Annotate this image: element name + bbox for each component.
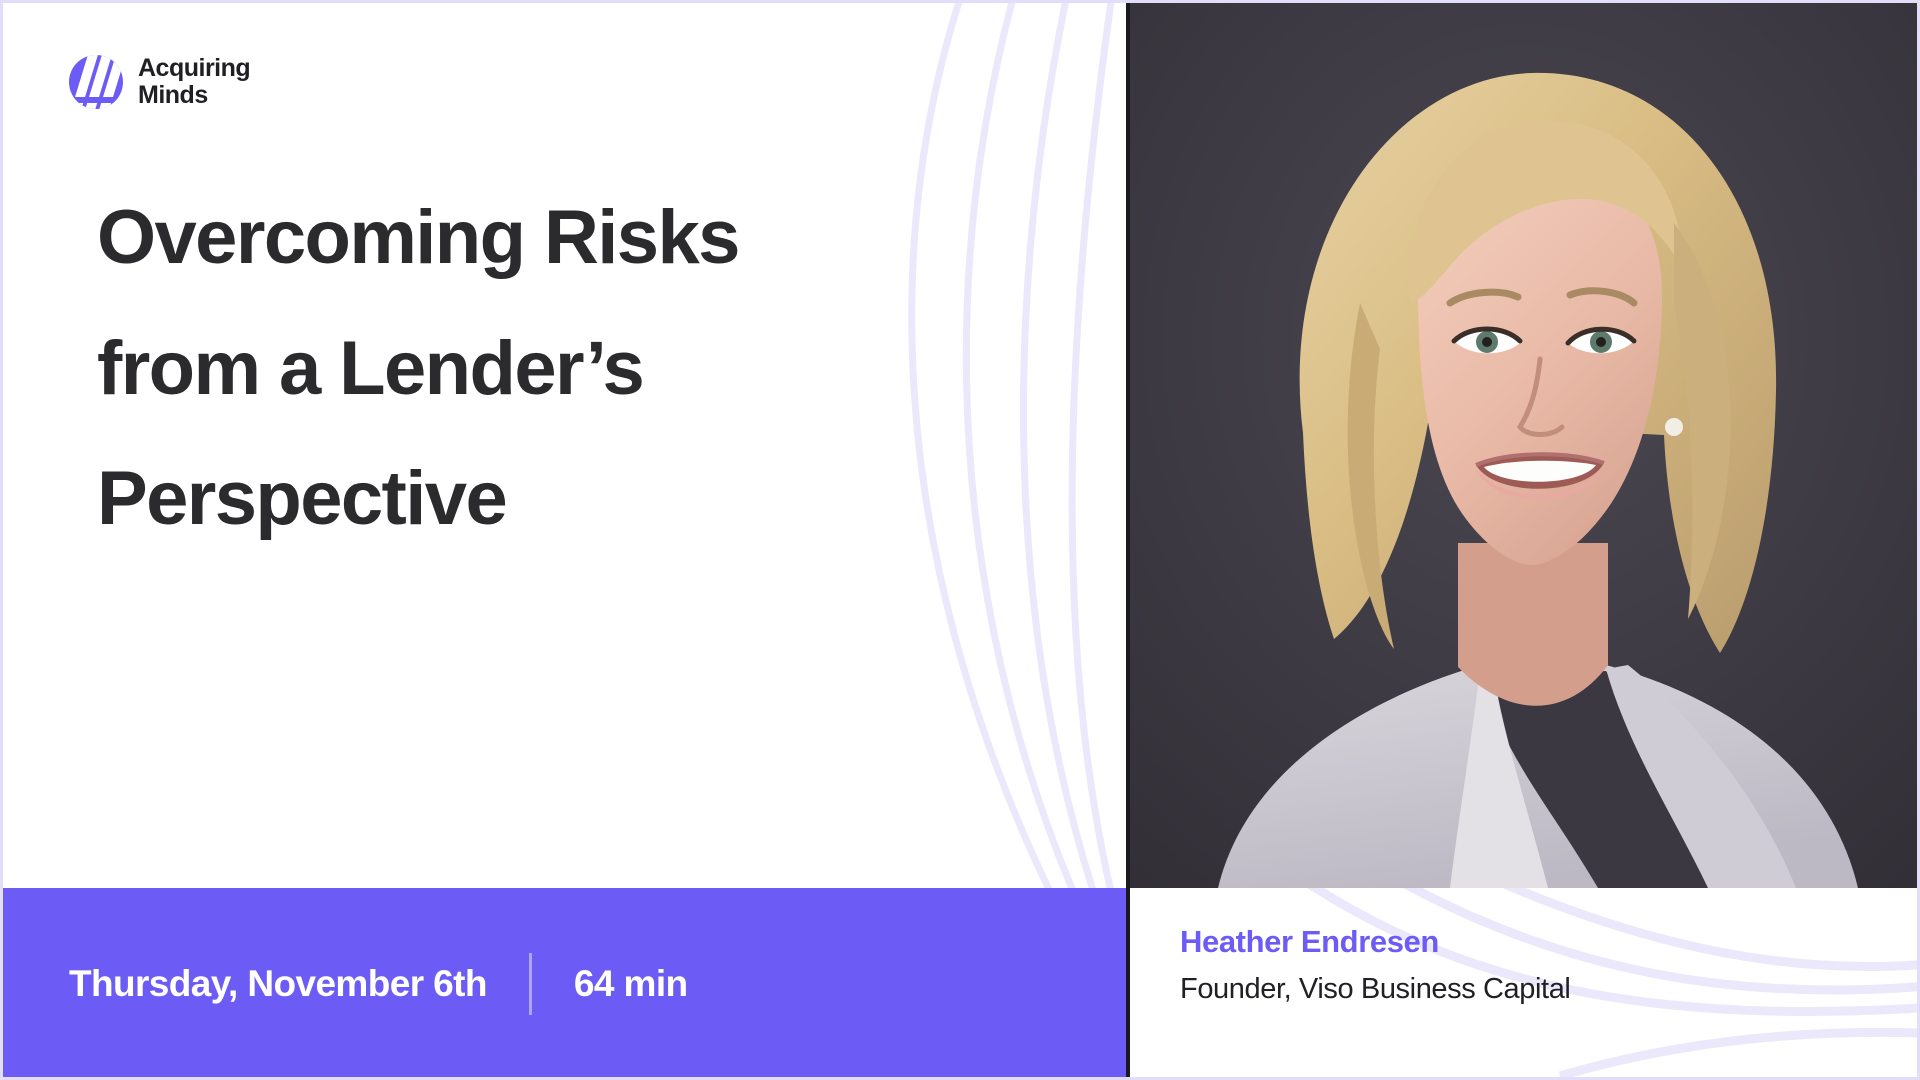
speaker-photo	[1126, 3, 1920, 888]
page-title: Overcoming Risks from a Lender’s Perspec…	[97, 173, 857, 565]
speaker-name: Heather Endresen	[1180, 924, 1439, 960]
title-line-3: Perspective	[97, 434, 857, 565]
headshot-illustration	[1130, 3, 1920, 888]
date-banner: Thursday, November 6th 64 min	[3, 888, 1126, 1080]
speaker-role: Founder, Viso Business Capital	[1180, 973, 1570, 1006]
event-date: Thursday, November 6th	[69, 963, 487, 1005]
title-line-2: from a Lender’s	[97, 304, 857, 435]
speaker-info-block: Heather Endresen Founder, Viso Business …	[1126, 888, 1920, 1080]
title-line-1: Overcoming Risks	[97, 173, 857, 304]
brand-name-line-1: Acquiring	[138, 54, 250, 82]
left-content-panel: Acquiring Minds Overcoming Risks from a …	[3, 3, 1126, 888]
brand-logo[interactable]: Acquiring Minds	[69, 55, 250, 109]
brand-name-line-2: Minds	[138, 81, 208, 109]
acquiring-minds-circle-mark-icon	[69, 55, 123, 109]
brand-wordmark: Acquiring Minds	[138, 55, 250, 109]
webinar-promo-card: Acquiring Minds Overcoming Risks from a …	[0, 0, 1920, 1080]
vertical-divider-icon	[529, 953, 532, 1015]
event-duration: 64 min	[574, 963, 688, 1005]
